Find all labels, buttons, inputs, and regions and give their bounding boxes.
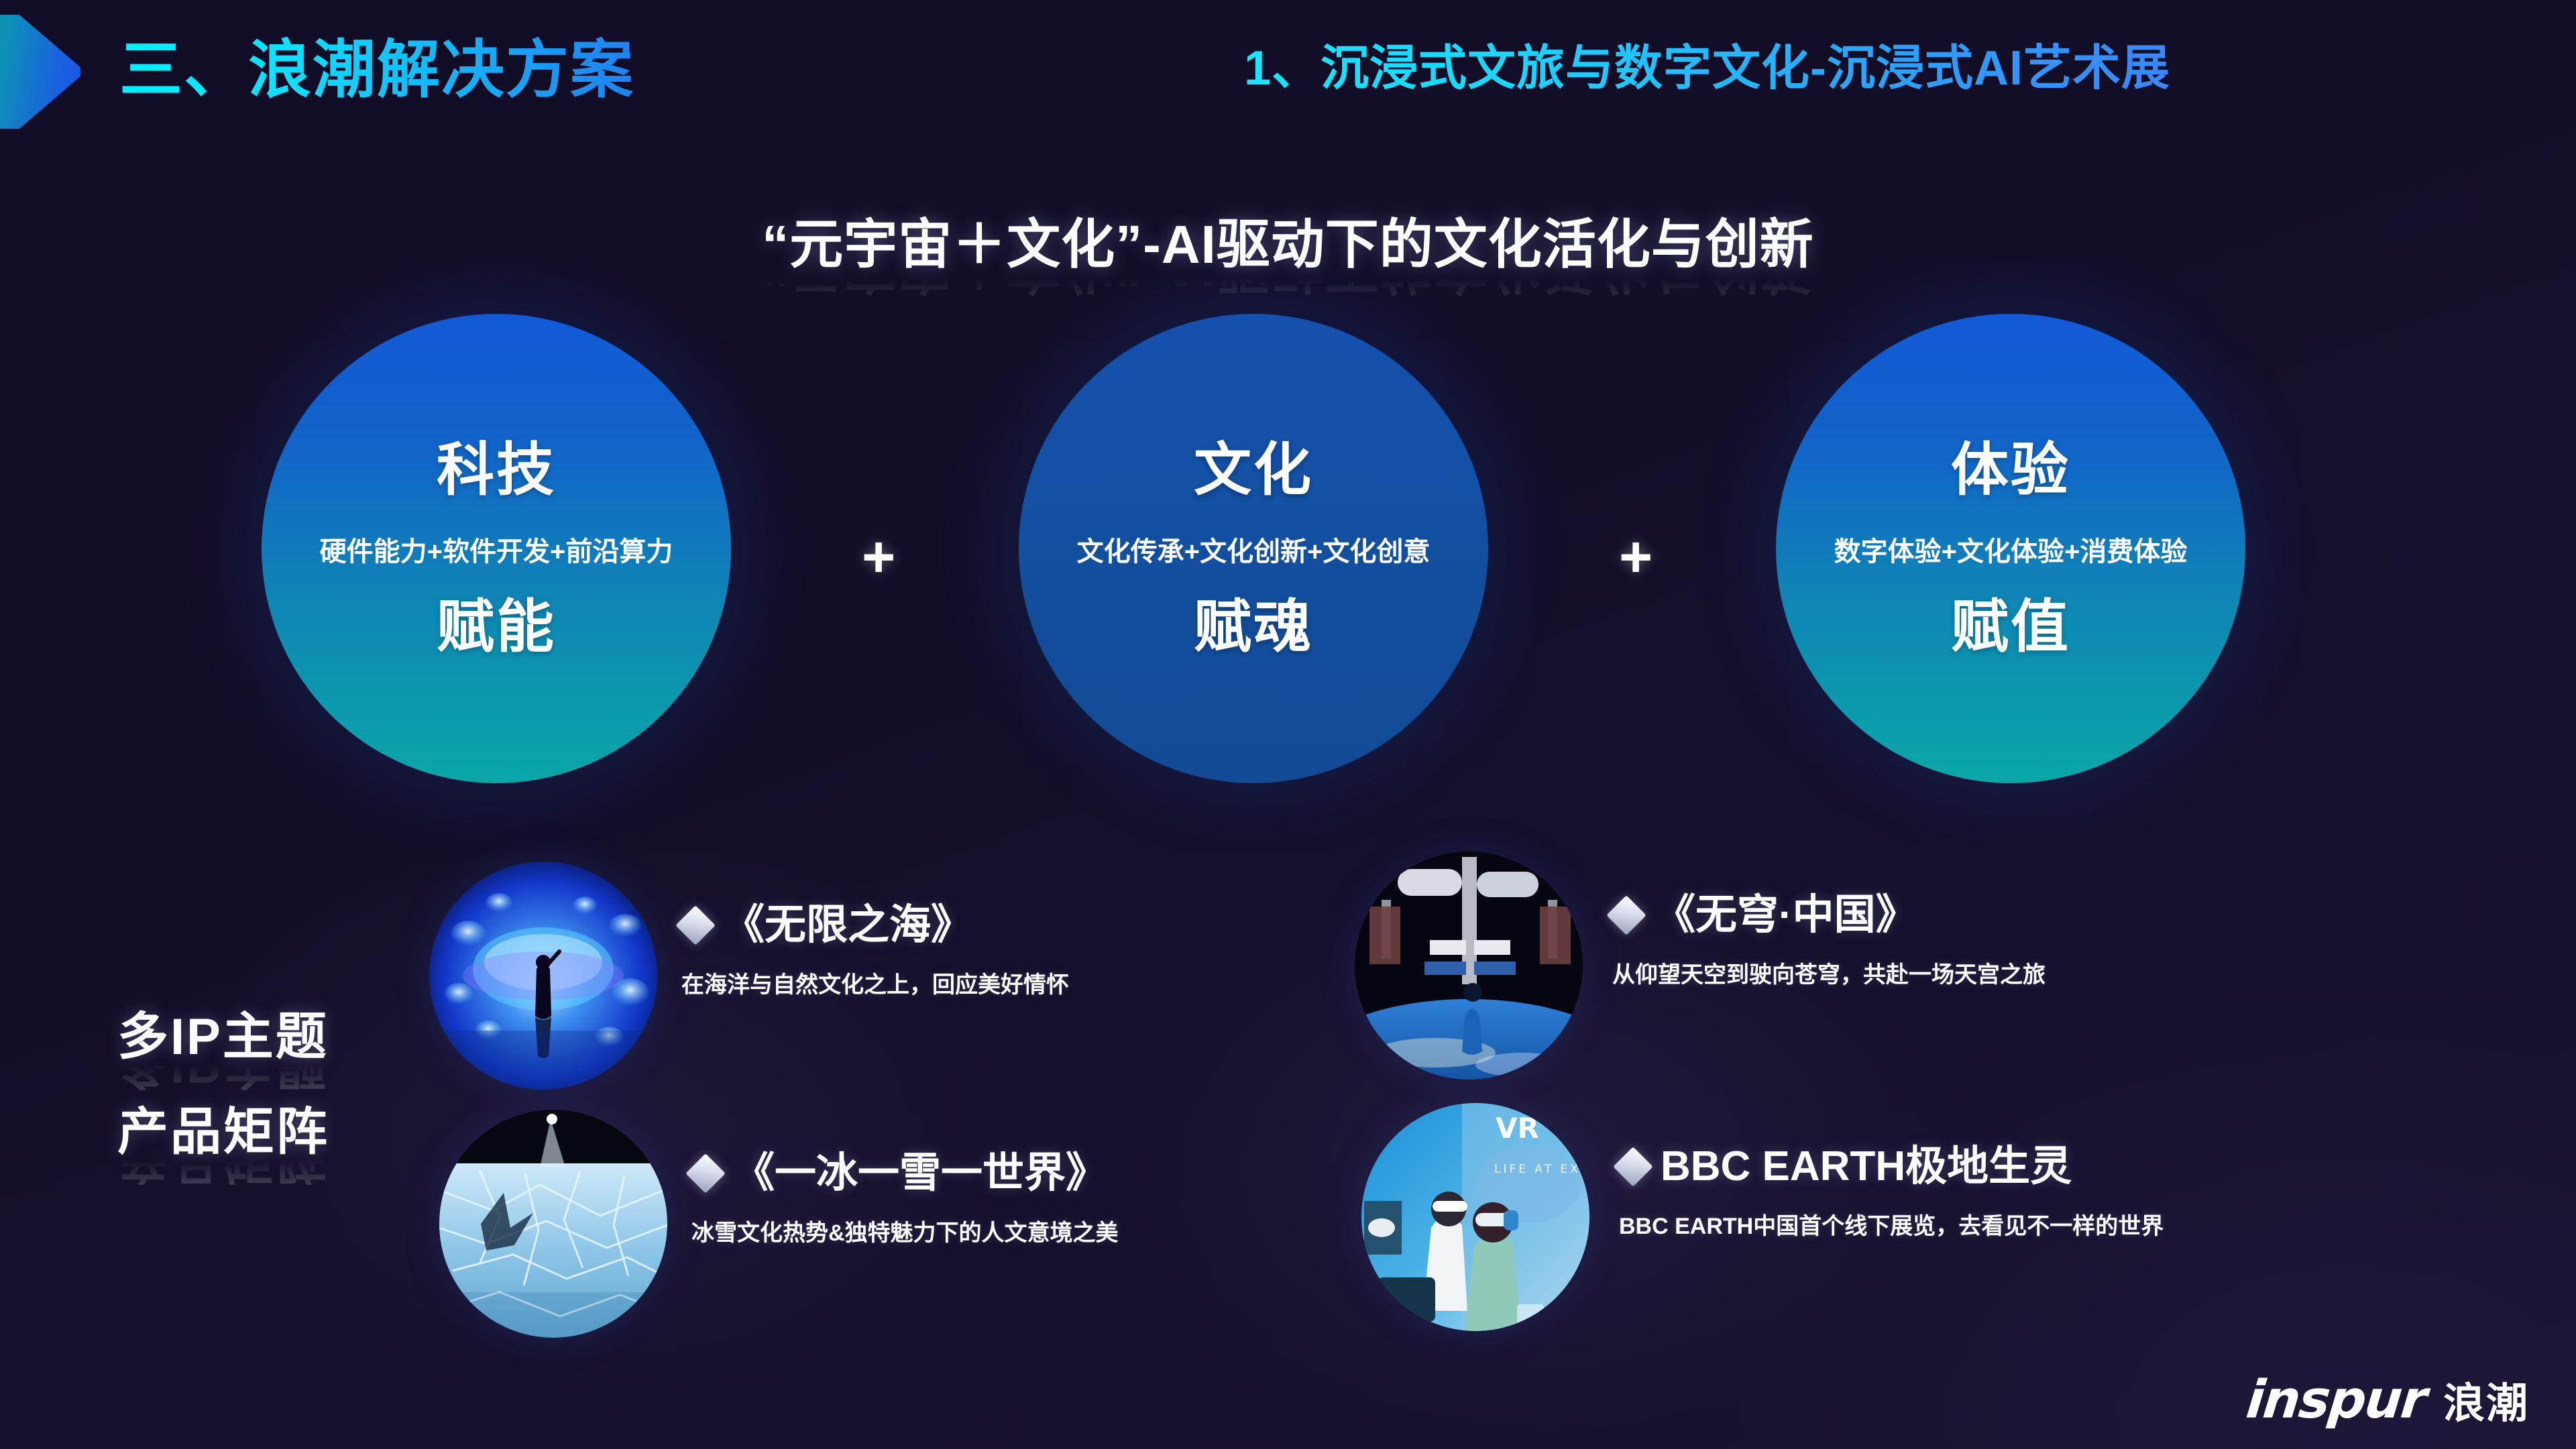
project-text: 《无穹·中国》 从仰望天空到驶向苍穹，共赴一场天宫之旅 [1612,852,2046,989]
project-text: 《一冰一雪一世界》 冰雪文化热势&独特魅力下的人文意境之美 [691,1110,1119,1247]
project-description: 从仰望天空到驶向苍穹，共赴一场天宫之旅 [1612,956,2046,989]
svg-text:LIFE AT EX: LIFE AT EX [1494,1163,1581,1176]
project-item[interactable]: 《无穹·中国》 从仰望天空到驶向苍穹，共赴一场天宫之旅 [1355,852,2046,1080]
logo-wordmark-en: inspur [2244,1370,2429,1430]
logo-wordmark-cn: 浪潮 [2443,1369,2529,1430]
pillar-culture[interactable]: 文化 文化传承+文化创新+文化创意 赋魂 [1019,314,1488,783]
matrix-label: 多IP主题 多IP主题 产品矩阵 产品矩阵 [117,1011,329,1201]
space-station-earth-photo [1355,852,1583,1080]
diamond-bullet-icon [1613,1147,1653,1186]
topic-title: 1、沉浸式文旅与数字文化-沉浸式AI艺术展 [1244,28,2170,99]
ocean-jellyfish-projection-photo [429,862,657,1090]
pillar-formula: 文化传承+文化创新+文化创意 [1077,530,1431,569]
pillar-formula: 数字体验+文化体验+消费体验 [1834,530,2188,569]
pillar-effect: 赋值 [1951,598,2070,656]
page-title: 三、浪潮解决方案 [119,19,634,110]
pillar-experience[interactable]: 体验 数字体验+文化体验+消费体验 赋值 [1776,314,2245,783]
project-heading: 《一冰一雪一世界》 [691,1153,1119,1194]
project-item[interactable]: 《无限之海》 在海洋与自然文化之上，回应美好情怀 [429,862,1069,1090]
project-heading: BBC EARTH极地生灵 [1619,1146,2164,1187]
project-title: 《一冰一雪一世界》 [733,1153,1107,1194]
subtitle-text: “元宇宙＋文化”-AI驱动下的文化活化与创新 [762,201,1814,279]
project-item[interactable]: 《一冰一雪一世界》 冰雪文化热势&独特魅力下的人文意境之美 [439,1110,1119,1338]
diamond-bullet-icon [675,905,715,945]
slide-root: 三、浪潮解决方案 1、沉浸式文旅与数字文化-沉浸式AI艺术展 “元宇宙＋文化”-… [0,0,2576,1449]
pillar-name: 文化 [1194,441,1313,499]
subtitle-block: “元宇宙＋文化”-AI驱动下的文化活化与创新 “元宇宙＋文化”-AI驱动下的文化… [0,201,2576,311]
pillar-effect: 赋能 [437,598,556,656]
project-heading: 《无限之海》 [681,905,1069,946]
inspur-logo: inspur 浪潮 [2247,1369,2529,1430]
ice-crystal-immersive-photo [439,1110,667,1338]
project-description: 在海洋与自然文化之上，回应美好情怀 [681,966,1069,999]
matrix-label-line2-reflection: 产品矩阵 [117,1158,329,1185]
pillar-effect: 赋魂 [1194,598,1313,656]
project-title: 《无穹·中国》 [1654,894,1917,936]
matrix-label-line1: 多IP主题 [117,1011,329,1063]
svg-text:VR: VR [1496,1112,1539,1145]
project-description: 冰雪文化热势&独特魅力下的人文意境之美 [691,1214,1119,1247]
matrix-label-line1-reflection: 多IP主题 [117,1063,329,1090]
project-heading: 《无穹·中国》 [1612,894,2046,936]
project-title: BBC EARTH极地生灵 [1661,1146,2072,1187]
matrix-label-line2: 产品矩阵 [117,1106,329,1159]
pillar-name: 科技 [437,441,556,499]
pillar-formula: 硬件能力+软件开发+前沿算力 [320,530,673,569]
diamond-bullet-icon [685,1153,725,1193]
project-text: BBC EARTH极地生灵 BBC EARTH中国首个线下展览，去看见不一样的世… [1619,1103,2164,1240]
project-description: BBC EARTH中国首个线下展览，去看见不一样的世界 [1619,1208,2164,1240]
project-text: 《无限之海》 在海洋与自然文化之上，回应美好情怀 [681,862,1069,999]
pillar-name: 体验 [1951,441,2070,499]
plus-separator-a: + [862,528,895,586]
diamond-bullet-icon [1606,895,1646,935]
project-title: 《无限之海》 [723,905,972,946]
plus-separator-b: + [1619,528,1653,586]
chevron-right-icon [0,15,80,129]
vr-headset-visitors-photo: VR LIFE AT EX [1361,1103,1589,1331]
pillars-row: 科技 硬件能力+软件开发+前沿算力 赋能 + 文化 文化传承+文化创新+文化创意… [0,314,2576,810]
subtitle-reflection: “元宇宙＋文化”-AI驱动下的文化活化与创新 [0,275,2576,311]
pillar-technology[interactable]: 科技 硬件能力+软件开发+前沿算力 赋能 [262,314,731,783]
project-item[interactable]: VR LIFE AT EX BBC EARTH极地生灵 BBC EARTH中国 [1361,1103,2164,1331]
